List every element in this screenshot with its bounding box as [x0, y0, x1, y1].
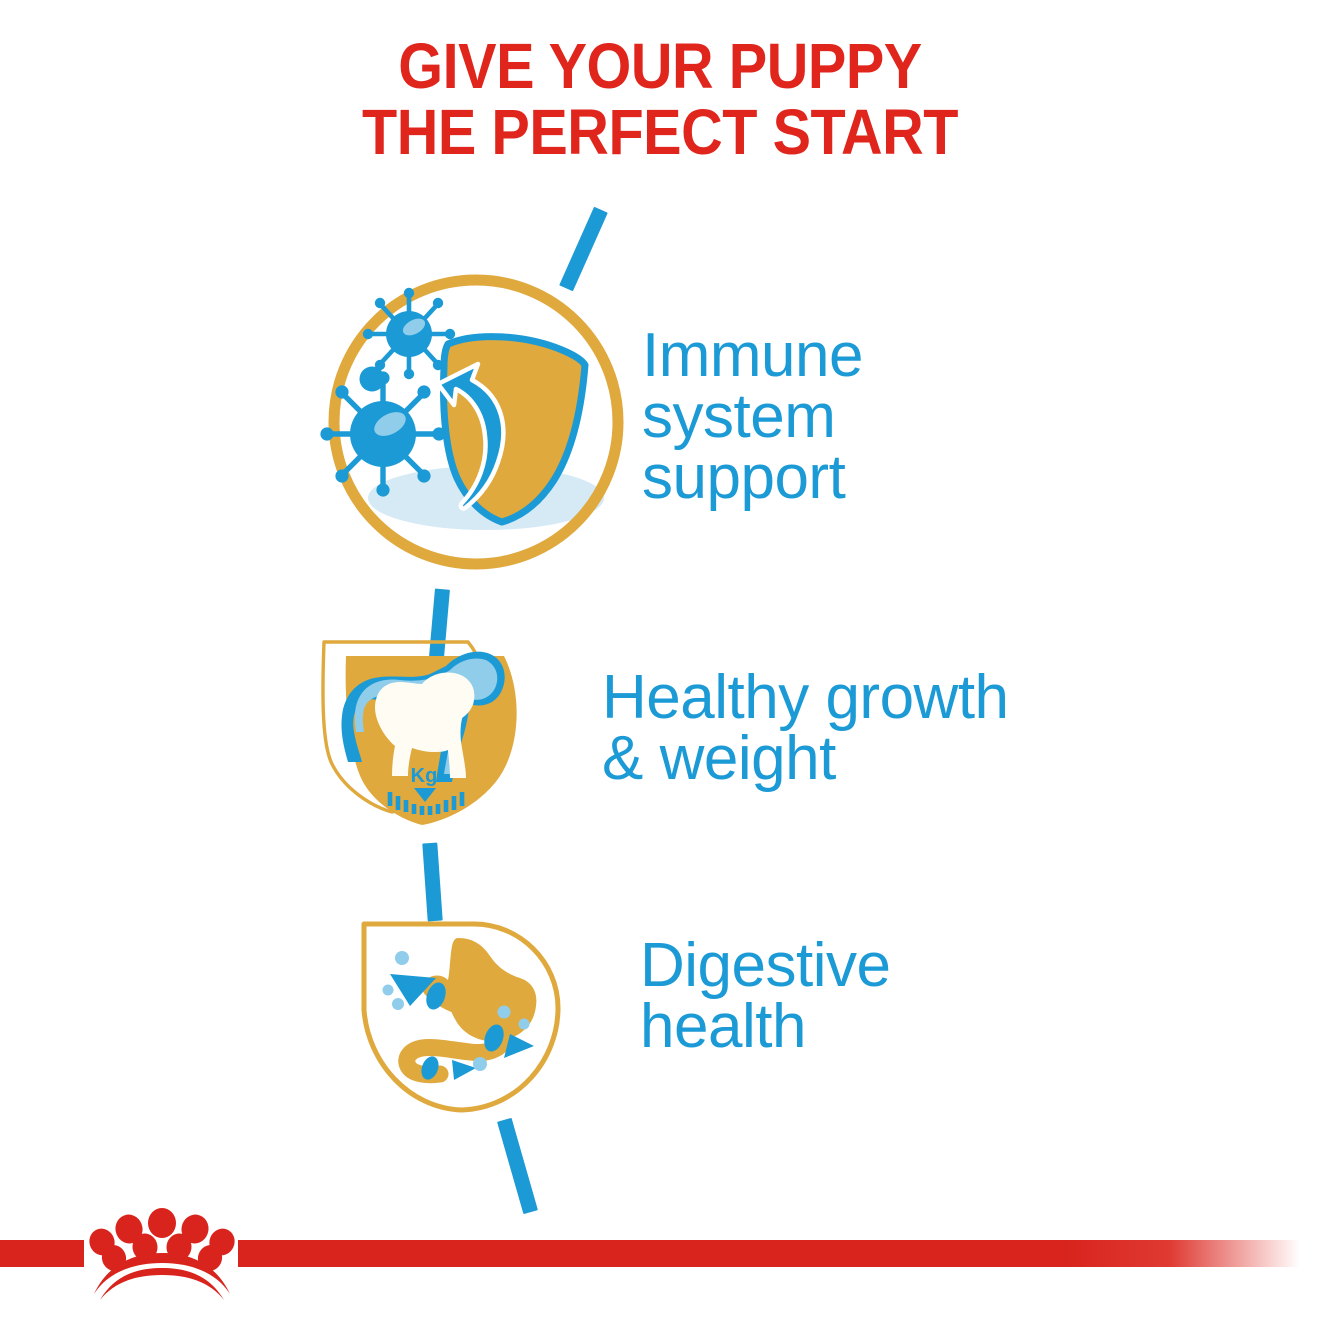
benefit-label-immune-line-2: system	[642, 387, 863, 448]
page-title: GIVE YOUR PUPPY THE PERFECT START	[210, 34, 1110, 166]
kg-unit-label: Kg	[411, 765, 438, 787]
benefit-label-digestive-line-2: health	[640, 997, 891, 1058]
page-title-line-1: GIVE YOUR PUPPY	[210, 34, 1110, 100]
benefit-label-growth-line-2: & weight	[602, 729, 1009, 790]
benefit-label-immune-line-1: Immune	[642, 326, 863, 387]
virus-bottom	[320, 371, 445, 496]
benefit-label-digestive-line-1: Digestive	[640, 936, 891, 997]
page-title-line-2: THE PERFECT START	[210, 100, 1110, 166]
connector-dash-3	[422, 843, 442, 922]
benefit-label-digestive: Digestive health	[640, 936, 891, 1058]
royal-canin-crown-logo	[84, 1206, 240, 1302]
connector-dash-4	[497, 1118, 538, 1214]
benefit-label-immune-line-3: support	[642, 448, 863, 509]
benefit-label-growth: Healthy growth & weight	[602, 668, 1009, 790]
benefit-label-growth-line-1: Healthy growth	[602, 668, 1009, 729]
benefit-label-immune: Immune system support	[642, 326, 863, 508]
puppy-weight-scale-icon: Kg	[318, 636, 540, 828]
digestive-stomach-icon	[352, 912, 574, 1122]
immune-shield-icon	[326, 272, 626, 572]
infographic-page: GIVE YOUR PUPPY THE PERFECT START	[0, 0, 1320, 1320]
